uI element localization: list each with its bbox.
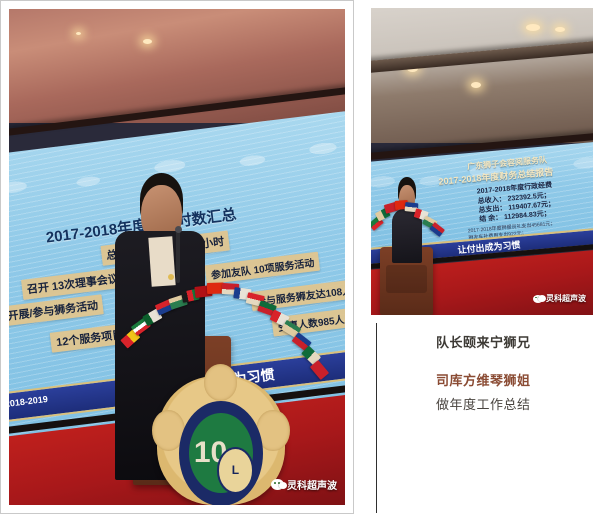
ceiling xyxy=(371,8,593,143)
microphone xyxy=(176,231,180,283)
speaker-lapel-pin xyxy=(168,274,174,280)
photo-second: 广东狮子会容阅服务队 2017-2018年度财务总结报告 2017-2018年度… xyxy=(371,8,593,315)
caption-line-annual-summary: 做年度工作总结 xyxy=(436,394,586,413)
ceiling-lamp xyxy=(555,27,565,32)
slide-banner-year: 2018-2019 xyxy=(9,394,48,409)
lions-club-emblem: 广东狮子会容阅服务队CHINA LIONS CLUB 10 L xyxy=(157,376,285,505)
ceiling xyxy=(9,9,345,123)
photo-main: 2017-2018年度服务时数汇总 总服务时间： 4617 小时 召开 13次理… xyxy=(9,9,345,505)
flag xyxy=(429,222,445,237)
photo-second-frame: 广东狮子会容阅服务队 2017-2018年度财务总结报告 2017-2018年度… xyxy=(371,8,593,315)
wechat-watermark: 灵科超声波 xyxy=(533,293,586,304)
caption-block: 队长颐来宁狮兄 司库方维琴狮姐 做年度工作总结 xyxy=(436,332,586,413)
ceiling-lamp xyxy=(471,82,481,88)
caption-line-treasurer: 司库方维琴狮姐 xyxy=(436,370,586,389)
wechat-icon xyxy=(271,479,284,490)
watermark-label: 灵科超声波 xyxy=(287,477,337,492)
ceiling-lamp xyxy=(76,32,81,35)
slide-bullet-friend-teams: 参加友队 10项服务活动 xyxy=(205,252,320,285)
ceiling-lamp xyxy=(143,39,152,44)
wechat-icon xyxy=(533,295,543,303)
screenshot-canvas: 2017-2018年度服务时数汇总 总服务时间： 4617 小时 召开 13次理… xyxy=(0,0,600,522)
flag-fan xyxy=(371,198,451,266)
watermark-label: 灵科超声波 xyxy=(546,293,586,304)
ceiling-lamp xyxy=(526,24,540,31)
emblem-petal xyxy=(204,364,237,400)
vertical-divider xyxy=(376,323,377,513)
caption-line-team-leader: 队长颐来宁狮兄 xyxy=(436,332,586,351)
photo-main-frame: 2017-2018年度服务时数汇总 总服务时间： 4617 小时 召开 13次理… xyxy=(0,0,354,514)
wechat-watermark: 灵科超声波 xyxy=(271,477,337,492)
emblem-lions-seal: L xyxy=(217,447,254,494)
